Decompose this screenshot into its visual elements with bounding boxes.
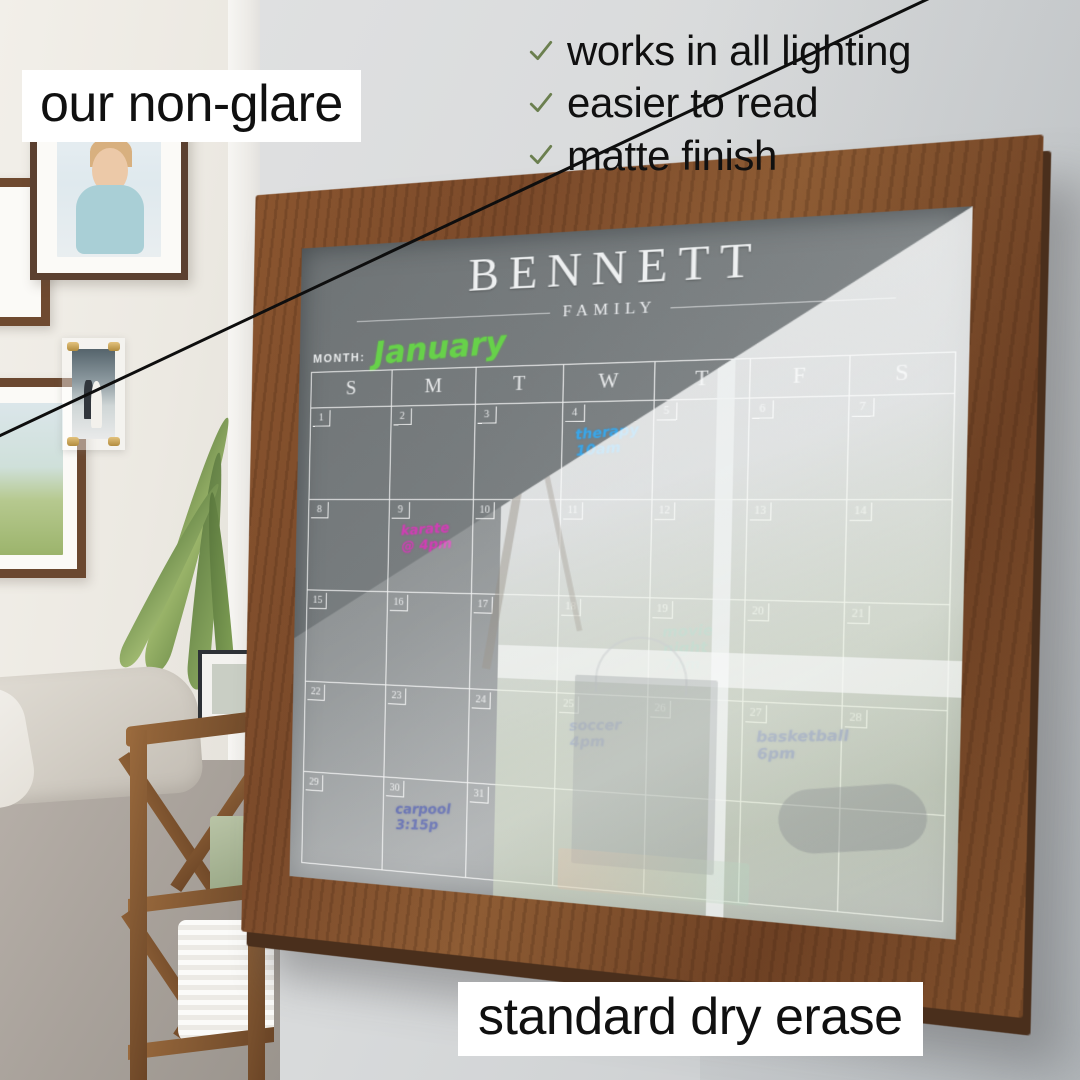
- feature-item-label: works in all lighting: [567, 28, 911, 73]
- handwritten-event-note: karate @ 4pm: [401, 521, 453, 555]
- calendar-day-cell[interactable]: 25soccer 4pm: [555, 693, 648, 795]
- product-comparison-image: BENNETT FAMILY MONTH: January SMTWTFS 12…: [0, 0, 1080, 1080]
- calendar-day-cell[interactable]: 24: [468, 689, 557, 789]
- calendar-day-cell[interactable]: [838, 809, 944, 920]
- day-number: 16: [390, 595, 408, 612]
- day-number: 7: [852, 398, 875, 417]
- handwritten-event-note: therapy 10am: [575, 423, 640, 461]
- calendar-day-cell[interactable]: 27basketball 6pm: [741, 702, 843, 809]
- calendar-day-cell[interactable]: 6: [748, 396, 850, 498]
- weekday-header-4: T: [655, 359, 751, 400]
- board-surface: BENNETT FAMILY MONTH: January SMTWTFS 12…: [290, 206, 973, 940]
- non-glare-label-text: our non-glare: [40, 78, 343, 130]
- calendar-day-cell[interactable]: 10: [472, 500, 561, 596]
- feature-list: works in all lightingeasier to readmatte…: [528, 28, 911, 185]
- handwritten-event-note: basketball 6pm: [756, 729, 850, 764]
- calendar-day-cell[interactable]: 7: [847, 394, 954, 499]
- day-number: 3: [478, 406, 497, 423]
- calendar-day-cell[interactable]: [553, 790, 646, 894]
- weekday-header-2: T: [476, 365, 564, 404]
- acrylic-wedding-frame: [62, 338, 125, 450]
- day-number: 11: [563, 502, 583, 519]
- calendar-day-cell[interactable]: 13: [746, 500, 848, 602]
- day-number: 30: [386, 780, 404, 798]
- handwritten-event-note: movie night 7pm: [662, 623, 745, 676]
- weekday-header-6: S: [850, 353, 955, 396]
- standard-dry-erase-label-text: standard dry erase: [478, 991, 903, 1043]
- day-number: 2: [394, 408, 412, 425]
- calendar-day-cell[interactable]: 16: [386, 592, 472, 688]
- calendar-grid: SMTWTFS 1234therapy 10am56789karate @ 4p…: [301, 351, 956, 922]
- standard-dry-erase-label: standard dry erase: [458, 982, 923, 1056]
- calendar-day-cell[interactable]: 11: [559, 500, 652, 598]
- calendar-day-cell[interactable]: 12: [650, 500, 747, 600]
- landscape-photo: [0, 403, 63, 555]
- calendar-day-cell[interactable]: 29: [302, 772, 384, 869]
- rule-left: [357, 313, 550, 323]
- calendar-day-cell[interactable]: 22: [304, 681, 386, 776]
- calendar-day-cell[interactable]: 8: [308, 500, 390, 592]
- day-number: 21: [847, 605, 870, 624]
- calendar-day-cell[interactable]: 28: [840, 706, 946, 815]
- day-number: 15: [309, 593, 327, 610]
- baby-photo: [57, 124, 161, 257]
- calendar-day-cell[interactable]: 20: [743, 601, 845, 705]
- day-number: 29: [306, 774, 324, 791]
- calendar-day-cell[interactable]: 31: [466, 784, 555, 885]
- day-number: 23: [388, 687, 406, 704]
- calendar-day-cell[interactable]: 5: [653, 399, 750, 499]
- calendar-day-cell[interactable]: 26: [646, 697, 743, 801]
- day-number: 10: [476, 502, 495, 519]
- standoff-top-right: [108, 342, 120, 351]
- calendar-day-cell[interactable]: 2: [390, 405, 476, 499]
- day-number: 12: [654, 502, 675, 520]
- day-number: 25: [559, 695, 579, 713]
- calendar-day-cell[interactable]: 15: [306, 591, 388, 685]
- calendar-week-row: 1234therapy 10am567: [309, 394, 954, 500]
- handwritten-event-note: soccer 4pm: [569, 718, 623, 751]
- calendar-day-cell[interactable]: [644, 796, 741, 902]
- feature-item-label: matte finish: [567, 133, 777, 178]
- tabletop-photo: [212, 664, 248, 714]
- family-word: FAMILY: [562, 299, 657, 322]
- day-number: 4: [565, 405, 585, 423]
- calendar-day-cell[interactable]: 19movie night 7pm: [648, 599, 745, 701]
- calendar-week-row: 89karate @ 4pm1011121314: [308, 500, 952, 606]
- check-icon: [528, 38, 554, 64]
- feature-item: matte finish: [528, 133, 911, 178]
- standoff-top-left: [67, 342, 79, 351]
- rule-right: [671, 297, 896, 308]
- day-number: 8: [311, 502, 329, 518]
- day-number: 6: [752, 400, 774, 419]
- day-number: 14: [849, 502, 872, 521]
- day-number: 1: [313, 410, 331, 427]
- calendar-day-cell[interactable]: 23: [384, 685, 470, 782]
- day-number: 9: [392, 502, 410, 519]
- day-number: 28: [845, 709, 868, 729]
- day-number: 27: [745, 704, 767, 723]
- day-number: 24: [472, 691, 491, 709]
- dry-erase-calendar-board: BENNETT FAMILY MONTH: January SMTWTFS 12…: [240, 133, 1065, 1074]
- month-label: MONTH:: [313, 352, 366, 366]
- feature-item: works in all lighting: [528, 28, 911, 73]
- calendar-weeks: 1234therapy 10am56789karate @ 4pm1011121…: [301, 393, 955, 922]
- day-number: 19: [652, 601, 673, 619]
- weekday-header-5: F: [750, 356, 851, 398]
- calendar-day-cell[interactable]: 17: [470, 594, 559, 692]
- calendar-day-cell[interactable]: 1: [309, 407, 391, 499]
- calendar-day-cell[interactable]: [739, 803, 840, 912]
- check-icon: [528, 142, 554, 168]
- wedding-photo: [72, 349, 115, 439]
- calendar-day-cell[interactable]: 9karate @ 4pm: [388, 500, 474, 594]
- calendar-day-cell[interactable]: 3: [474, 403, 563, 499]
- weekday-header-0: S: [311, 370, 392, 407]
- day-number: 17: [474, 597, 493, 614]
- day-number: 26: [650, 700, 671, 719]
- calendar-day-cell[interactable]: 18: [557, 596, 650, 696]
- handwritten-event-note: carpool 3:15p: [395, 803, 452, 835]
- day-number: 5: [657, 402, 678, 420]
- standoff-bottom-left: [67, 437, 79, 446]
- check-icon: [528, 90, 554, 116]
- calendar-day-cell[interactable]: 14: [845, 500, 951, 605]
- weekday-header-1: M: [392, 368, 477, 406]
- non-glare-label: our non-glare: [22, 70, 361, 142]
- day-number: 20: [748, 603, 770, 622]
- feature-item: easier to read: [528, 80, 911, 125]
- standoff-bottom-right: [108, 437, 120, 446]
- day-number: 22: [307, 684, 325, 701]
- month-value-handwritten: January: [373, 330, 506, 367]
- day-number: 31: [470, 786, 489, 804]
- day-number: 18: [561, 599, 581, 617]
- month-row: MONTH: January: [313, 334, 506, 366]
- baby-body: [76, 185, 145, 254]
- calendar-day-cell[interactable]: 21: [843, 603, 949, 710]
- side-table-leg: [130, 730, 147, 1080]
- calendar-day-cell[interactable]: 4therapy 10am: [561, 401, 654, 499]
- feature-item-label: easier to read: [567, 80, 818, 125]
- day-number: 13: [750, 502, 772, 520]
- calendar-day-cell[interactable]: 30carpool 3:15p: [383, 778, 469, 877]
- weekday-header-3: W: [563, 362, 655, 402]
